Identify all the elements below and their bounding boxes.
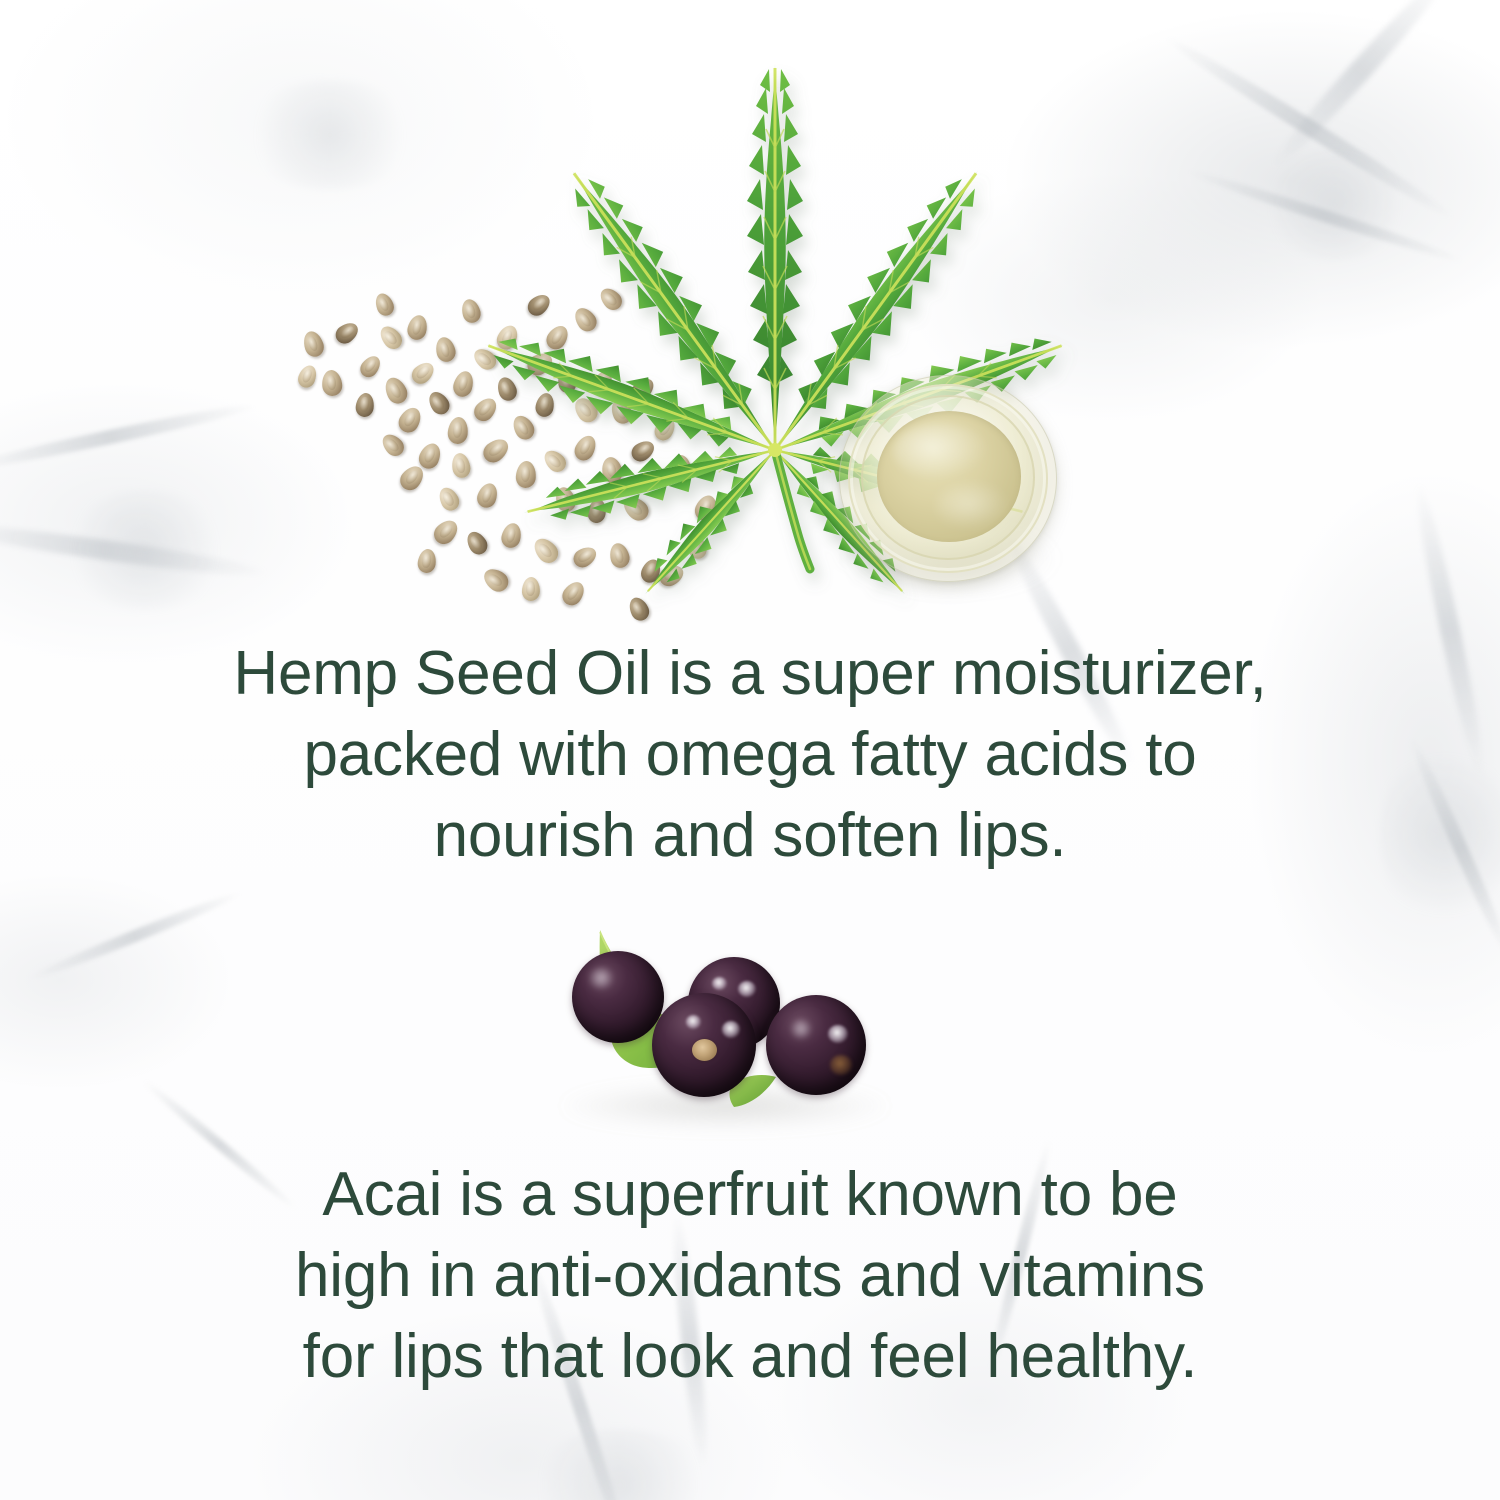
oil-highlight-secondary — [935, 483, 1009, 529]
berry-highlight-front-right-1 — [790, 1019, 812, 1039]
hemp-line-2: packed with omega fatty acids to — [0, 714, 1500, 795]
hemp-line-1: Hemp Seed Oil is a super moisturizer, — [0, 633, 1500, 714]
acai-berry-front-right — [766, 995, 866, 1095]
ingredient-panel: Hemp Seed Oil is a super moisturizer, pa… — [0, 0, 1500, 1500]
berry-stem-scar — [692, 1039, 717, 1061]
acai-berry-back-left — [572, 951, 664, 1043]
hemp-oil-jar — [839, 375, 1057, 582]
berry-highlight-front-left-2 — [722, 1021, 740, 1038]
hemp-line-3: nourish and soften lips. — [0, 795, 1500, 876]
acai-description-text: Acai is a superfruit known to be high in… — [0, 1154, 1500, 1397]
acai-line-3: for lips that look and feel healthy. — [0, 1316, 1500, 1397]
berry-highlight-back-right-2 — [738, 981, 756, 997]
acai-line-1: Acai is a superfruit known to be — [0, 1154, 1500, 1235]
berry-highlight-front-right-2 — [828, 1025, 848, 1043]
oil-highlight — [893, 423, 989, 481]
acai-line-2: high in anti-oxidants and vitamins — [0, 1235, 1500, 1316]
berry-blotch-front-right — [830, 1055, 852, 1075]
hemp-description-text: Hemp Seed Oil is a super moisturizer, pa… — [0, 633, 1500, 876]
acai-berries-photo — [540, 915, 940, 1135]
berry-highlight-back-left — [588, 967, 614, 989]
berry-highlight-front-left-1 — [686, 1015, 701, 1029]
hemp-leaf-seeds-oil-photo — [290, 25, 1080, 615]
berry-highlight-back-right-1 — [712, 977, 727, 990]
